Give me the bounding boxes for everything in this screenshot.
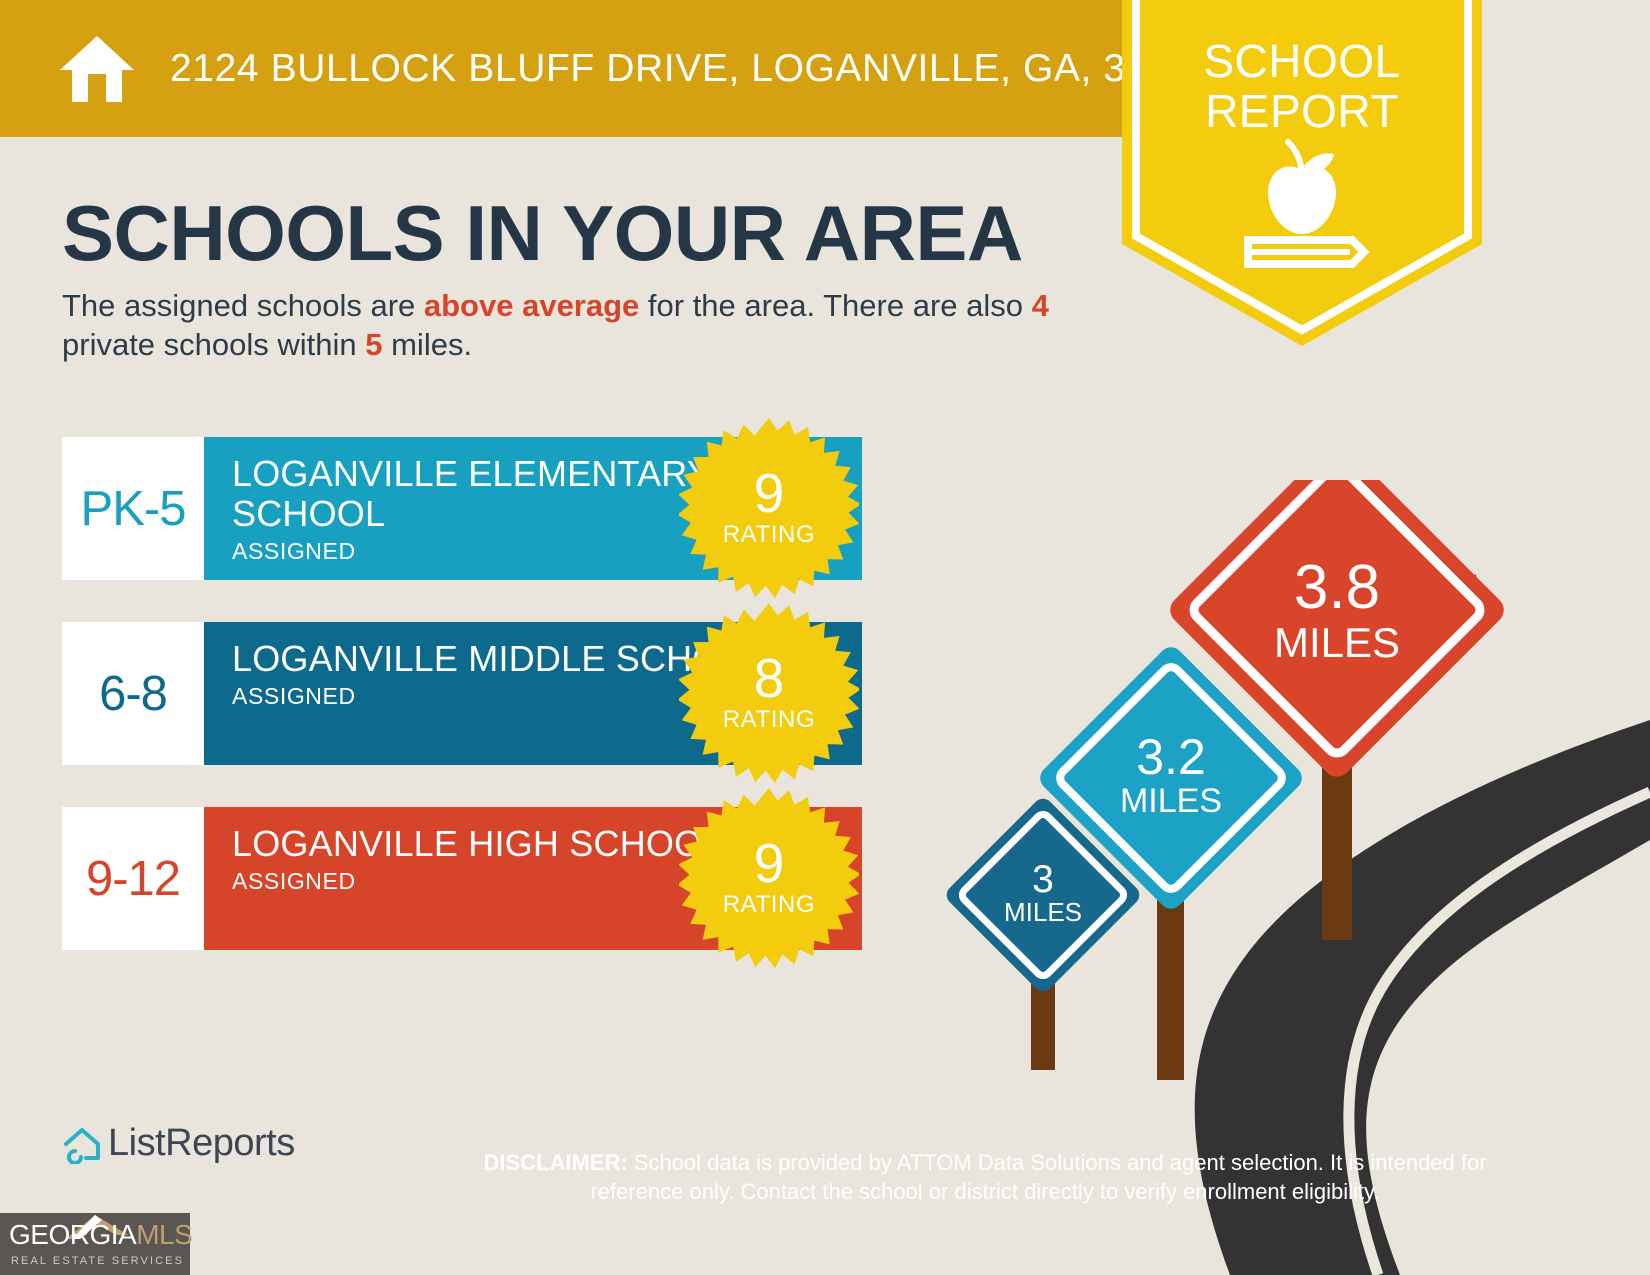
subtitle-highlight-radius: 5 [365, 327, 382, 362]
school-report-badge: SCHOOL REPORT [1122, 0, 1482, 346]
subtitle: The assigned schools are above average f… [62, 286, 1092, 364]
rating-badge: 8 RATING [679, 603, 859, 783]
listreports-name: ListReports [108, 1122, 295, 1165]
house-outline-icon [62, 1124, 102, 1164]
rating-value: 8 [754, 652, 785, 704]
distance-value: 3.8 [1294, 553, 1380, 622]
subtitle-highlight-count: 4 [1032, 288, 1049, 323]
grade-range: PK-5 [62, 437, 204, 580]
school-row[interactable]: 9-12 LOGANVILLE HIGH SCHOOL ASSIGNED 9 R… [62, 807, 862, 950]
distance-value: 3 [1032, 858, 1054, 901]
rating-content: 8 RATING [679, 603, 859, 783]
school-list: PK-5 LOGANVILLE ELEMENTARY SCHOOL ASSIGN… [62, 437, 862, 992]
school-report-page: 2124 BULLOCK BLUFF DRIVE, LOGANVILLE, GA… [0, 0, 1650, 1275]
rating-label: RATING [723, 706, 816, 734]
home-icon [58, 34, 136, 104]
disclaimer-label: DISCLAIMER: [483, 1150, 627, 1175]
page-title: SCHOOLS IN YOUR AREA [62, 188, 1023, 279]
rating-badge: 9 RATING [679, 788, 859, 968]
disclaimer-text: School data is provided by ATTOM Data So… [590, 1150, 1486, 1204]
rating-label: RATING [723, 891, 816, 919]
grade-range: 6-8 [62, 622, 204, 765]
listreports-logo[interactable]: ListReports [62, 1122, 295, 1165]
rating-value: 9 [754, 467, 785, 519]
subtitle-part-3: private schools within [62, 327, 365, 362]
distance-unit: MILES [1120, 782, 1222, 820]
mls-text: GEORGIAMLS [9, 1219, 192, 1251]
rating-badge: 9 RATING [679, 418, 859, 598]
rating-content: 9 RATING [679, 418, 859, 598]
distance-unit: MILES [1274, 619, 1400, 666]
distance-unit: MILES [1004, 897, 1082, 927]
subtitle-highlight-average: above average [424, 288, 639, 323]
disclaimer: DISCLAIMER: School data is provided by A… [455, 1148, 1515, 1206]
school-row[interactable]: PK-5 LOGANVILLE ELEMENTARY SCHOOL ASSIGN… [62, 437, 862, 580]
mls-tagline: REAL ESTATE SERVICES [11, 1255, 184, 1267]
subtitle-part-1: The assigned schools are [62, 288, 424, 323]
rating-label: RATING [723, 521, 816, 549]
rating-content: 9 RATING [679, 788, 859, 968]
georgia-mls-wordmark: GEORGIAMLS [0, 1213, 190, 1251]
badge-line-1: SCHOOL [1122, 36, 1482, 86]
property-address: 2124 BULLOCK BLUFF DRIVE, LOGANVILLE, GA… [170, 47, 1215, 91]
distance-value: 3.2 [1136, 729, 1206, 785]
subtitle-part-2: for the area. There are also [639, 288, 1031, 323]
subtitle-part-4: miles. [383, 327, 473, 362]
badge-line-2: REPORT [1122, 86, 1482, 136]
badge-text: SCHOOL REPORT [1122, 36, 1482, 136]
georgia-mls-logo: GEORGIAMLS REAL ESTATE SERVICES [0, 1213, 190, 1275]
school-row[interactable]: 6-8 LOGANVILLE MIDDLE SCHOOL ASSIGNED 8 … [62, 622, 862, 765]
grade-range: 9-12 [62, 807, 204, 950]
rating-value: 9 [754, 837, 785, 889]
mls-accent: MLS [136, 1219, 192, 1250]
mls-primary: GEORGIA [9, 1219, 136, 1250]
